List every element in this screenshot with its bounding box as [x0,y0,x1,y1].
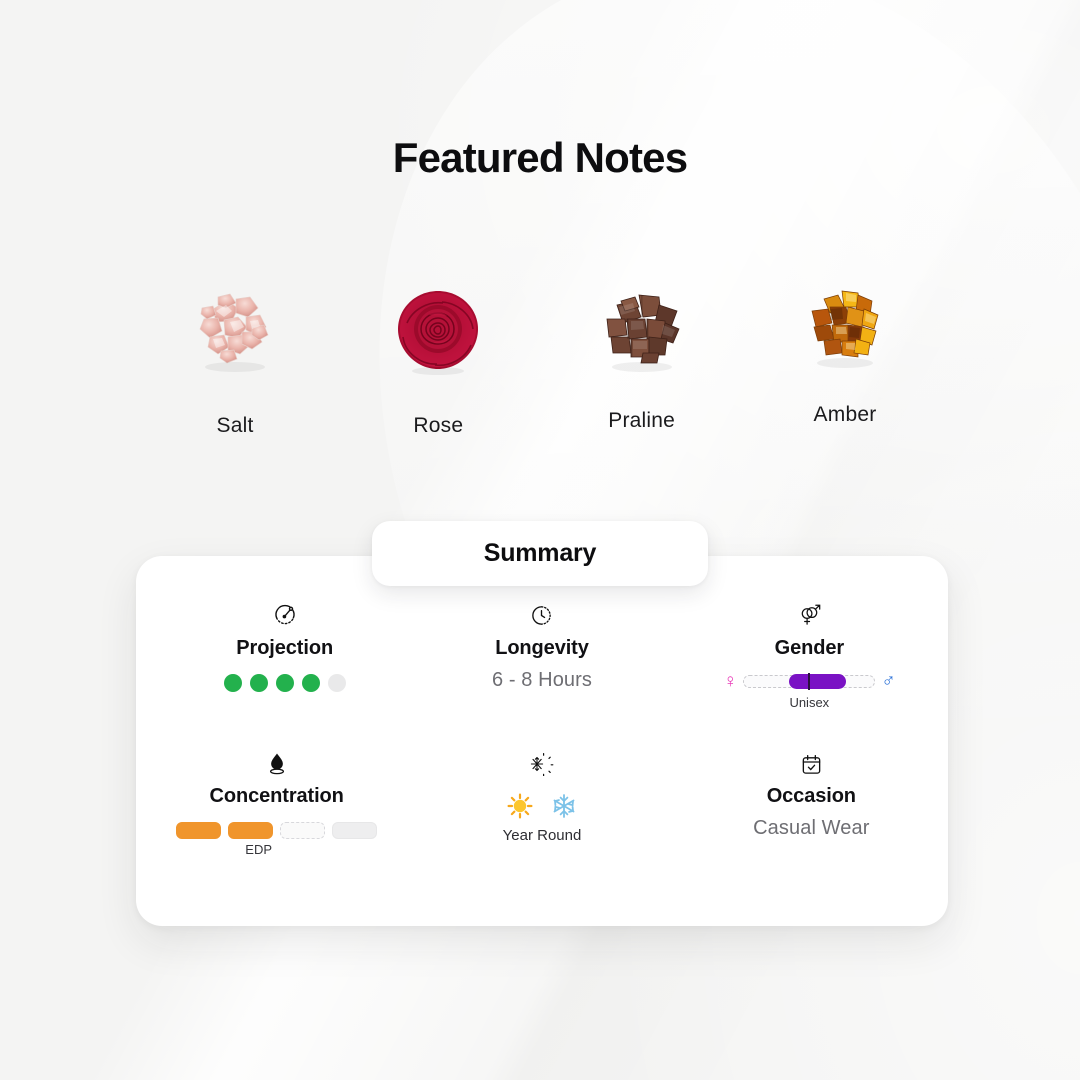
projection-dot[interactable] [276,674,294,692]
sun-icon [507,793,533,824]
concentration-bar[interactable] [176,822,221,839]
summary-card: Projection Longevity 6 - 8 Hours [136,556,948,926]
note-label: Salt [217,414,254,438]
gender-slider[interactable]: ♀ ♂ [723,672,896,691]
summary-grid: Projection Longevity 6 - 8 Hours [136,556,948,926]
calendar-check-icon [800,751,823,777]
gender-slider-track[interactable] [743,675,875,688]
salt-crystals-image [180,275,290,385]
gender-slider-fill[interactable] [789,674,846,689]
page-title: Featured Notes [0,134,1080,182]
snowflake-icon [551,793,577,824]
concentration-caption: EDP [245,842,272,857]
summary-tab-label: Summary [484,539,597,568]
gender-venus-mars-icon [797,602,822,628]
occasion-title: Occasion [767,785,856,808]
summary-tab[interactable]: Summary [372,521,708,586]
summary-cell-season: Year Round [415,751,668,900]
droplet-icon [266,751,288,777]
female-symbol-icon: ♀ [723,672,737,691]
note-item-salt[interactable]: Salt [150,275,320,438]
rose-flower-image [383,275,493,385]
note-item-praline[interactable]: Praline [557,275,727,433]
praline-chunks-image [587,275,697,385]
summary-cell-longevity: Longevity 6 - 8 Hours [415,602,668,751]
projection-title: Projection [236,637,333,660]
season-icons [507,793,577,824]
note-label: Praline [608,409,675,433]
gender-caption: Unisex [789,695,829,710]
summary-cell-gender: Gender ♀ ♂ Unisex [683,602,936,751]
concentration-bar[interactable] [280,822,325,839]
season-caption: Year Round [503,827,582,844]
amber-stones-image [790,275,900,385]
gender-title: Gender [775,637,844,660]
note-label: Amber [814,403,877,427]
concentration-title: Concentration [210,785,344,808]
sun-snowflake-icon [530,751,554,777]
occasion-value: Casual Wear [753,817,869,840]
concentration-bar[interactable] [228,822,273,839]
gender-slider-marker [808,673,810,690]
longevity-title: Longevity [495,637,589,660]
male-symbol-icon: ♂ [881,672,895,691]
projection-rating[interactable] [224,674,346,692]
clock-icon [530,602,553,628]
featured-notes-row: Salt [150,275,930,438]
longevity-value: 6 - 8 Hours [492,669,592,692]
projection-dot[interactable] [302,674,320,692]
note-label: Rose [413,414,463,438]
concentration-bar[interactable] [332,822,377,839]
note-item-amber[interactable]: Amber [760,275,930,427]
summary-cell-concentration: Concentration EDP [150,751,403,900]
concentration-meter[interactable] [176,822,377,839]
note-item-rose[interactable]: Rose [353,275,523,438]
projection-dot[interactable] [328,674,346,692]
gauge-icon [273,602,297,628]
projection-dot[interactable] [224,674,242,692]
summary-cell-projection: Projection [158,602,411,751]
summary-cell-occasion: Occasion Casual Wear [685,751,938,900]
projection-dot[interactable] [250,674,268,692]
